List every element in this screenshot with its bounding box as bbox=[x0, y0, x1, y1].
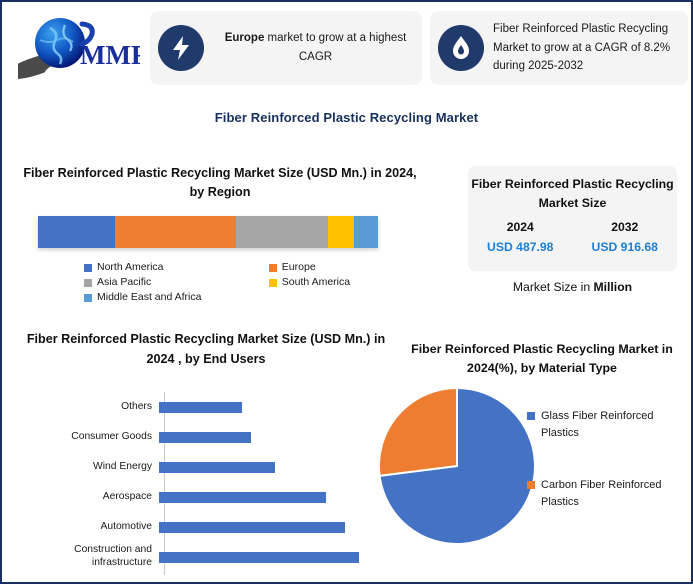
region-legend-label: Europe bbox=[282, 260, 316, 274]
flame-icon bbox=[438, 25, 484, 71]
end-users-bar-label: Construction and infrastructure bbox=[16, 544, 158, 569]
table-row: Aerospace bbox=[16, 482, 406, 512]
lightning-bolt-icon bbox=[158, 25, 204, 71]
market-size-box-title: Fiber Reinforced Plastic Recycling Marke… bbox=[468, 175, 677, 212]
header-chip-cagr-text: Fiber Reinforced Plastic Recycling Marke… bbox=[493, 20, 688, 76]
table-row: Consumer Goods bbox=[16, 422, 406, 452]
header-chip-cagr: Fiber Reinforced Plastic Recycling Marke… bbox=[430, 11, 688, 85]
end-users-bar bbox=[159, 432, 251, 443]
material-type-legend: Glass Fiber Reinforced PlasticsCarbon Fi… bbox=[527, 408, 687, 546]
legend-swatch-icon bbox=[269, 279, 277, 287]
region-legend-item: North America bbox=[84, 260, 269, 275]
region-chart-panel: Fiber Reinforced Plastic Recycling Marke… bbox=[20, 164, 420, 314]
material-type-legend-item: Carbon Fiber Reinforced Plastics bbox=[527, 477, 687, 510]
page-title: Fiber Reinforced Plastic Recycling Marke… bbox=[2, 110, 691, 125]
region-segment bbox=[236, 216, 328, 248]
region-legend-item: South America bbox=[269, 275, 414, 290]
region-segment bbox=[38, 216, 115, 248]
infographic-page: MMR Europe market to grow at a highest C… bbox=[0, 0, 693, 584]
material-type-chart-title: Fiber Reinforced Plastic Recycling Marke… bbox=[399, 340, 685, 378]
end-users-bar-label: Automotive bbox=[16, 521, 158, 534]
legend-swatch-icon bbox=[527, 481, 535, 489]
market-size-years: 2024 USD 487.98 2032 USD 916.68 bbox=[468, 220, 677, 254]
chip-rest: market to grow at a highest CAGR bbox=[264, 32, 406, 63]
legend-swatch-icon bbox=[527, 412, 535, 420]
end-users-bar bbox=[159, 492, 326, 503]
market-size-box: Fiber Reinforced Plastic Recycling Marke… bbox=[468, 166, 677, 271]
region-segment bbox=[354, 216, 378, 248]
region-legend-label: Asia Pacific bbox=[97, 275, 151, 289]
table-row: Wind Energy bbox=[16, 452, 406, 482]
region-segment bbox=[115, 216, 236, 248]
end-users-chart-title: Fiber Reinforced Plastic Recycling Marke… bbox=[26, 330, 386, 370]
region-chart-legend: North AmericaEuropeAsia PacificSouth Ame… bbox=[84, 260, 414, 305]
header-chip-europe-text: Europe market to grow at a highest CAGR bbox=[213, 29, 422, 66]
market-size-year-2032: 2032 bbox=[573, 220, 678, 234]
header: MMR Europe market to grow at a highest C… bbox=[2, 2, 691, 94]
table-row: Construction and infrastructure bbox=[16, 542, 406, 572]
end-users-bar bbox=[159, 462, 275, 473]
material-type-chart-panel: Fiber Reinforced Plastic Recycling Marke… bbox=[394, 340, 690, 584]
end-users-plot: OthersConsumer GoodsWind EnergyAerospace… bbox=[16, 392, 406, 577]
region-legend-item: Middle East and Africa bbox=[84, 290, 414, 305]
end-users-bar bbox=[159, 402, 242, 413]
market-size-value-2024: USD 487.98 bbox=[468, 240, 573, 254]
header-chip-europe: Europe market to grow at a highest CAGR bbox=[150, 11, 422, 85]
material-type-legend-item: Glass Fiber Reinforced Plastics bbox=[527, 408, 687, 441]
table-row: Others bbox=[16, 392, 406, 422]
pie-slice bbox=[379, 388, 457, 476]
market-size-col-2024: 2024 USD 487.98 bbox=[468, 220, 573, 254]
globe-icon: MMR bbox=[18, 12, 140, 84]
market-size-value-2032: USD 916.68 bbox=[573, 240, 678, 254]
end-users-chart-panel: Fiber Reinforced Plastic Recycling Marke… bbox=[16, 330, 406, 580]
region-legend-item: Europe bbox=[269, 260, 414, 275]
region-chart-title: Fiber Reinforced Plastic Recycling Marke… bbox=[20, 164, 420, 202]
region-stacked-bar-wrap bbox=[38, 216, 378, 248]
chip-highlight: Europe bbox=[225, 32, 265, 44]
end-users-bar bbox=[159, 522, 345, 533]
region-legend-label: North America bbox=[97, 260, 164, 274]
market-size-caption: Market Size in Million bbox=[468, 280, 677, 294]
table-row: Automotive bbox=[16, 512, 406, 542]
legend-swatch-icon bbox=[269, 264, 277, 272]
end-users-bar-label: Consumer Goods bbox=[16, 431, 158, 444]
mmr-logo: MMR bbox=[18, 12, 140, 84]
material-type-legend-label: Carbon Fiber Reinforced Plastics bbox=[541, 477, 687, 510]
legend-swatch-icon bbox=[84, 294, 92, 302]
material-type-pie bbox=[362, 386, 552, 546]
region-segment bbox=[328, 216, 354, 248]
region-legend-label: Middle East and Africa bbox=[97, 290, 201, 304]
market-size-caption-prefix: Market Size in bbox=[513, 280, 594, 294]
legend-swatch-icon bbox=[84, 264, 92, 272]
region-legend-item: Asia Pacific bbox=[84, 275, 269, 290]
market-size-year-2024: 2024 bbox=[468, 220, 573, 234]
market-size-col-2032: 2032 USD 916.68 bbox=[573, 220, 678, 254]
region-legend-label: South America bbox=[282, 275, 350, 289]
material-type-legend-label: Glass Fiber Reinforced Plastics bbox=[541, 408, 687, 441]
end-users-bar bbox=[159, 552, 359, 563]
market-size-caption-unit: Million bbox=[594, 280, 633, 294]
end-users-bar-label: Others bbox=[16, 401, 158, 414]
region-stacked-bar bbox=[38, 216, 378, 248]
end-users-bar-label: Aerospace bbox=[16, 491, 158, 504]
end-users-bar-label: Wind Energy bbox=[16, 461, 158, 474]
logo-text: MMR bbox=[80, 40, 140, 70]
legend-swatch-icon bbox=[84, 279, 92, 287]
